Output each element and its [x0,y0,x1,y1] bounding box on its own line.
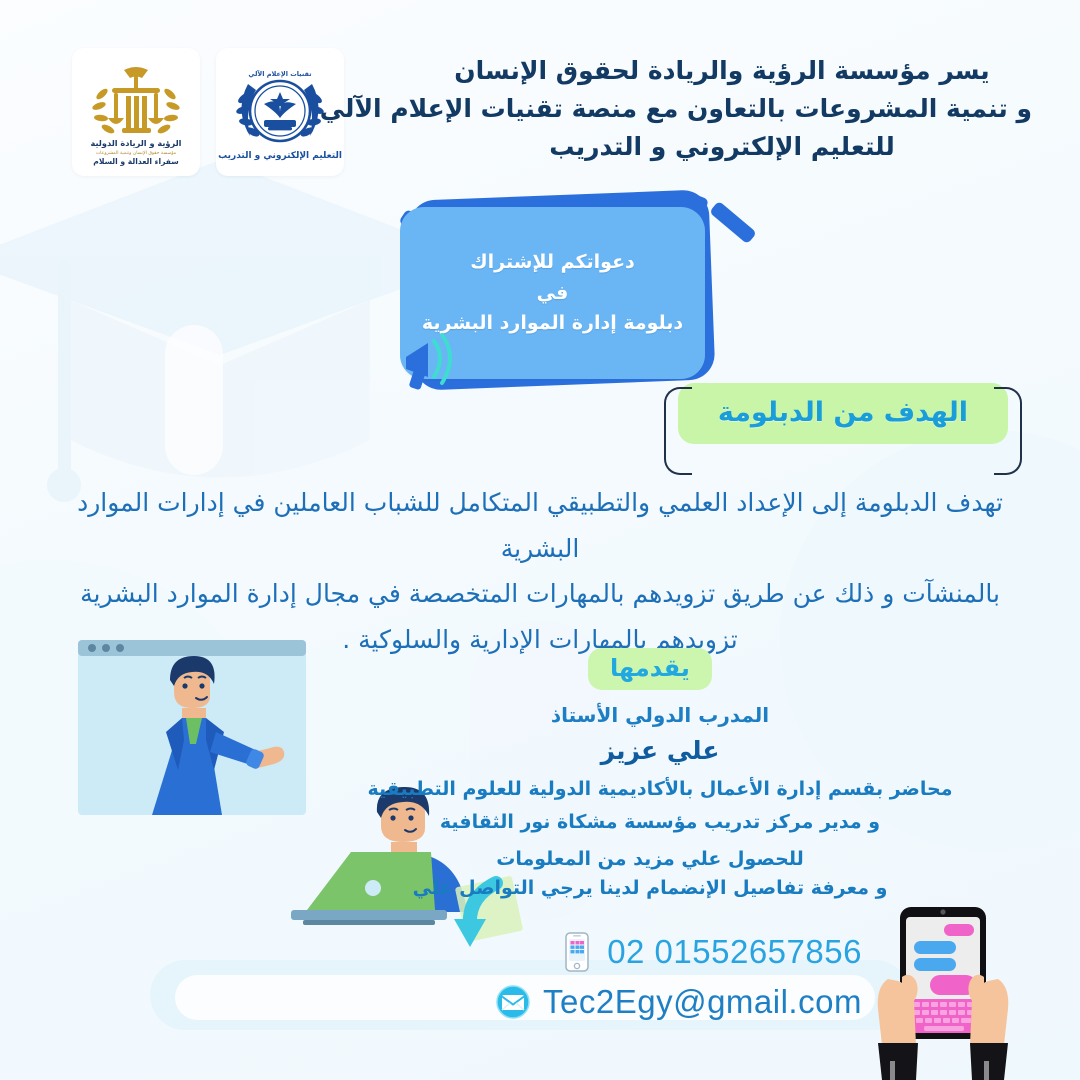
contact-phone-value: 02 01552657856 [607,933,862,971]
presenter-badge-label: يقدمها [610,654,690,682]
contact-email-row[interactable]: Tec2Egy@gmail.com [495,980,862,1024]
vision-leadership-logo-icon: الرؤية و الريادة الدولية مؤسسة حقوق الإن… [78,54,194,170]
contact-lead: للحصول علي مزيد من المعلومات و معرفة تفا… [400,845,900,904]
presenter-name: علي عزيز [340,732,980,771]
contact-phone-row[interactable]: 02 01552657856 [495,930,862,974]
presenter-credential-1: محاضر بقسم إدارة الأعمال بالأكاديمية الد… [340,775,980,804]
presenter-details: المدرب الدولي الأستاذ علي عزيز محاضر بقس… [340,700,980,837]
goal-badge: الهدف من الدبلومة [678,383,1008,444]
megaphone-icon [398,325,478,395]
smartphone-icon [559,930,595,974]
invitation-bubble: دعواتكم للإشتراك في دبلومة إدارة الموارد… [390,185,750,400]
contact-lead-line-1: للحصول علي مزيد من المعلومات [400,845,900,874]
svg-text:مؤسسة حقوق الإنسان وتنمية المش: مؤسسة حقوق الإنسان وتنمية المشروعات [96,150,177,156]
goal-paragraph-line-3: تزويدهم بالمهارات الإدارية والسلوكية . [70,617,1010,663]
video-call-presenter-illustration [78,640,306,815]
svg-text:الرؤية و الريادة الدولية: الرؤية و الريادة الدولية [91,138,182,149]
contact-lead-line-2: و معرفة تفاصيل الإنضمام لدينا يرجي التوا… [400,874,900,903]
header-line-2: و تنمية المشروعات بالتعاون مع منصة تقنيا… [412,90,1032,128]
header-announcement: يسر مؤسسة الرؤية والريادة لحقوق الإنسان … [412,52,1032,166]
bracket-right-decoration [994,387,1022,475]
svg-text:التعليم الإلكتروني و التدريب: التعليم الإلكتروني و التدريب [218,151,342,161]
spark-decoration [709,201,757,245]
header-line-3: للتعليم الإلكتروني و التدريب [412,128,1032,166]
svg-text:سفراء العدالة و السلام: سفراء العدالة و السلام [93,157,179,166]
presenter-badge: يقدمها [588,648,712,690]
goal-badge-chip: الهدف من الدبلومة [678,383,1008,444]
presenter-role: المدرب الدولي الأستاذ [340,700,980,730]
logo-vision-leadership: الرؤية و الريادة الدولية مؤسسة حقوق الإن… [72,48,200,176]
goal-paragraph-line-1: تهدف الدبلومة إلى الإعداد العلمي والتطبي… [70,480,1010,571]
poster-canvas: تقنيات الإعلام الآلي التعليم الإلكتروني … [0,0,1080,1080]
contact-rows: 02 01552657856 Tec2Egy@gmail.com [495,930,862,1030]
logo-row: تقنيات الإعلام الآلي التعليم الإلكتروني … [72,48,344,176]
invitation-line-2: في [537,278,569,309]
goal-badge-label: الهدف من الدبلومة [718,397,968,428]
contact-email-value: Tec2Egy@gmail.com [543,983,862,1021]
goal-paragraph: تهدف الدبلومة إلى الإعداد العلمي والتطبي… [70,480,1010,662]
hands-holding-phone-chat-illustration [858,905,1048,1080]
invitation-line-1: دعواتكم للإشتراك [470,247,635,278]
bracket-left-decoration [664,387,692,475]
header-line-1: يسر مؤسسة الرؤية والريادة لحقوق الإنسان [412,52,1032,90]
goal-paragraph-line-2: بالمنشآت و ذلك عن طريق تزويدهم بالمهارات… [70,571,1010,617]
envelope-icon [495,980,531,1024]
presenter-credential-2: و مدير مركز تدريب مؤسسة مشكاة نور الثقاف… [340,808,980,837]
svg-text:تقنيات الإعلام الآلي: تقنيات الإعلام الآلي [248,69,311,78]
